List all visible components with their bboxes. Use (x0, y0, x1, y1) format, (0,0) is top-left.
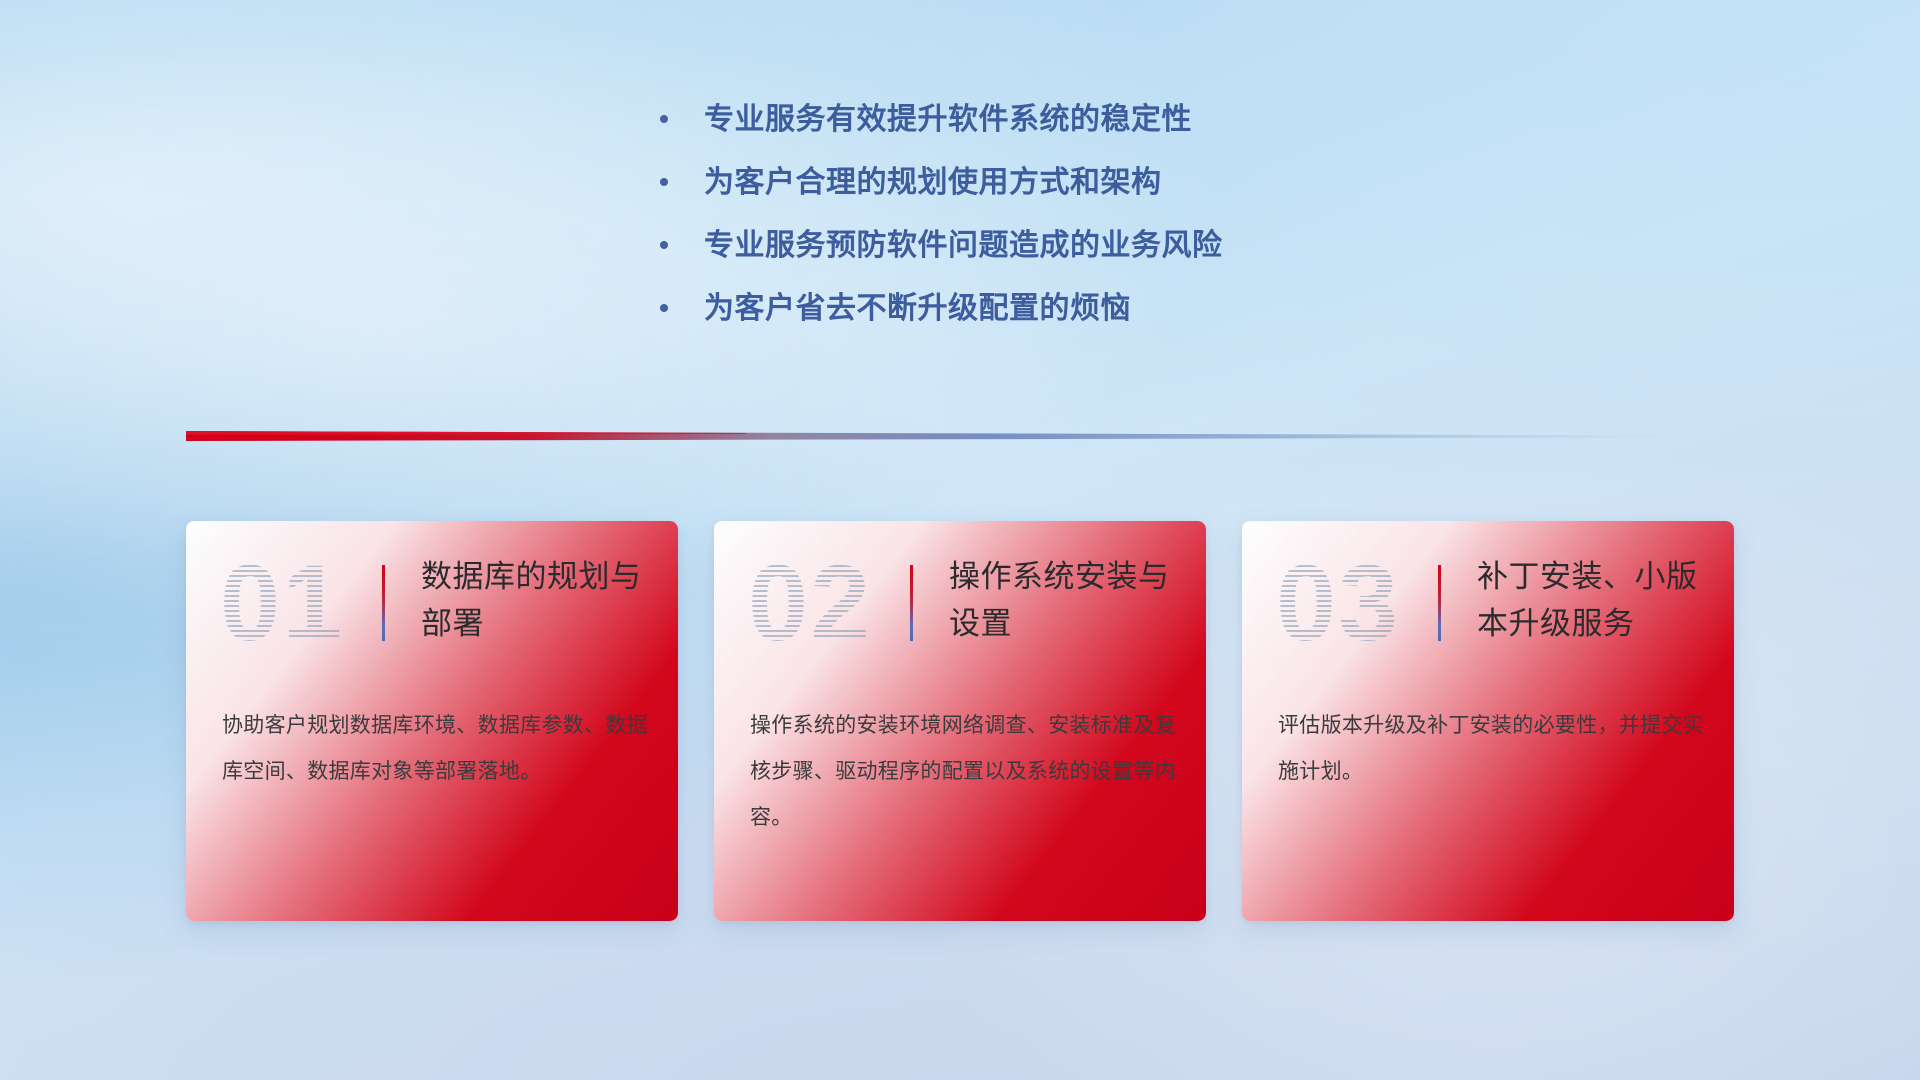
service-card-02[interactable]: 02 操作系统安装与设置 操作系统的安装环境网络调查、安装标准及复核步骤、驱动程… (714, 521, 1206, 921)
service-card-list: 01 数据库的规划与部署 协助客户规划数据库环境、数据库参数、数据库空间、数据库… (186, 521, 1734, 923)
card-body-text: 操作系统的安装环境网络调查、安装标准及复核步骤、驱动程序的配置以及系统的设置等内… (750, 703, 1176, 841)
bullet-text: 为客户省去不断升级配置的烦恼 (704, 291, 1131, 327)
card-content: 03 补丁安装、小版本升级服务 评估版本升级及补丁安装的必要性，并提交实施计划。 (1242, 521, 1734, 921)
bullet-dot-icon (660, 115, 668, 123)
bullet-dot-icon (660, 241, 668, 249)
card-body-text: 协助客户规划数据库环境、数据库参数、数据库空间、数据库对象等部署落地。 (222, 703, 648, 795)
card-title-rule (382, 565, 385, 641)
card-content: 02 操作系统安装与设置 操作系统的安装环境网络调查、安装标准及复核步骤、驱动程… (714, 521, 1206, 921)
list-item: 专业服务有效提升软件系统的稳定性 (660, 102, 1223, 138)
service-card-01[interactable]: 01 数据库的规划与部署 协助客户规划数据库环境、数据库参数、数据库空间、数据库… (186, 521, 678, 921)
card-number-watermark: 02 (748, 549, 872, 657)
service-card-03[interactable]: 03 补丁安装、小版本升级服务 评估版本升级及补丁安装的必要性，并提交实施计划。 (1242, 521, 1734, 921)
card-number-watermark: 03 (1276, 549, 1400, 657)
slide-stage: 专业服务有效提升软件系统的稳定性 为客户合理的规划使用方式和架构 专业服务预防软… (0, 0, 1920, 1080)
card-number-watermark: 01 (220, 549, 344, 657)
list-item: 专业服务预防软件问题造成的业务风险 (660, 228, 1223, 264)
bullet-text: 为客户合理的规划使用方式和架构 (704, 165, 1162, 201)
bullet-text: 专业服务有效提升软件系统的稳定性 (704, 102, 1192, 138)
bullet-dot-icon (660, 304, 668, 312)
bullet-dot-icon (660, 178, 668, 186)
benefits-bullet-list: 专业服务有效提升软件系统的稳定性 为客户合理的规划使用方式和架构 专业服务预防软… (660, 102, 1223, 354)
card-title: 操作系统安装与设置 (949, 553, 1189, 647)
card-title-rule (910, 565, 913, 641)
card-body-text: 评估版本升级及补丁安装的必要性，并提交实施计划。 (1278, 703, 1704, 795)
list-item: 为客户省去不断升级配置的烦恼 (660, 291, 1223, 327)
card-title: 数据库的规划与部署 (421, 553, 661, 647)
card-title: 补丁安装、小版本升级服务 (1477, 553, 1717, 647)
bullet-text: 专业服务预防软件问题造成的业务风险 (704, 228, 1223, 264)
card-title-rule (1438, 565, 1441, 641)
list-item: 为客户合理的规划使用方式和架构 (660, 165, 1223, 201)
card-content: 01 数据库的规划与部署 协助客户规划数据库环境、数据库参数、数据库空间、数据库… (186, 521, 678, 921)
divider (186, 427, 1732, 445)
tapered-divider-line-icon (186, 427, 1732, 445)
